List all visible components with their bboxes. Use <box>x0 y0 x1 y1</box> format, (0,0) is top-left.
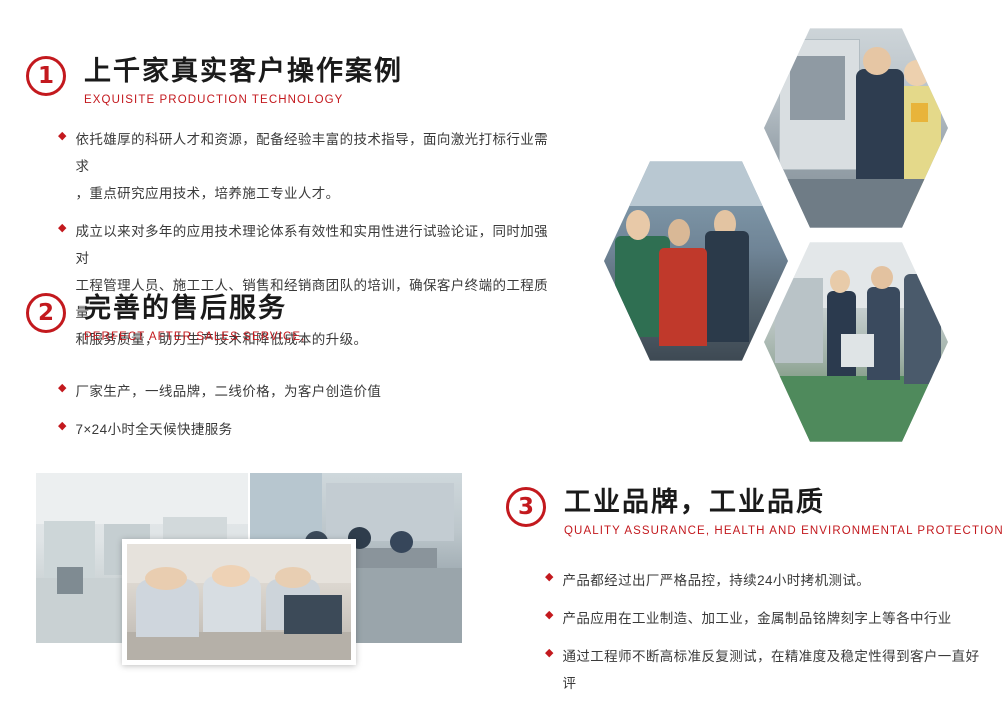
section-2-title-cn: 完善的售后服务 <box>84 293 305 324</box>
factory-workshop-floor-photo <box>764 236 948 448</box>
list-item: ◆ 7×24小时全天候快捷服务 <box>58 416 538 443</box>
section-2-title-en: PERFECT AFTER SALES SERVICE, <box>84 331 305 343</box>
section-2-bullet-2: 7×24小时全天候快捷服务 <box>75 416 232 443</box>
section-1-title-en: EXQUISITE PRODUCTION TECHNOLOGY <box>84 94 403 106</box>
diamond-icon: ◆ <box>58 218 66 238</box>
hex-photo-inspection <box>764 22 948 234</box>
section-3-bullet-list: ◆ 产品都经过出厂严格品控，持续24小时拷机测试。 ◆ 产品应用在工业制造、加工… <box>545 567 985 708</box>
hex-photo-workers <box>604 155 788 367</box>
section-2-heading-text: 完善的售后服务 PERFECT AFTER SALES SERVICE, <box>84 293 305 343</box>
promo-page: 1 上千家真实客户操作案例 EXQUISITE PRODUCTION TECHN… <box>0 0 1003 684</box>
section-1-heading-text: 上千家真实客户操作案例 EXQUISITE PRODUCTION TECHNOL… <box>84 56 403 106</box>
section-3-bullet-1: 产品都经过出厂严格品控，持续24小时拷机测试。 <box>562 567 870 594</box>
list-item: ◆ 产品都经过出厂严格品控，持续24小时拷机测试。 <box>545 567 985 594</box>
section-1-heading: 1 上千家真实客户操作案例 EXQUISITE PRODUCTION TECHN… <box>26 56 403 106</box>
section-1-number-badge: 1 <box>26 56 66 96</box>
list-item: ◆ 产品应用在工业制造、加工业，金属制品铭牌刻字上等各中行业 <box>545 605 985 632</box>
section-3-heading: 3 工业品牌，工业品质 QUALITY ASSURANCE, HEALTH AN… <box>506 487 1003 537</box>
list-item: ◆ 通过工程师不断高标准反复测试，在精准度及稳定性得到客户一直好评 <box>545 643 985 697</box>
diamond-icon: ◆ <box>58 378 66 398</box>
section-2-heading: 2 完善的售后服务 PERFECT AFTER SALES SERVICE, <box>26 293 305 343</box>
workers-operating-laser-machine-photo <box>604 155 788 367</box>
hex-photo-workshop <box>764 236 948 448</box>
engineers-inspecting-equipment-photo <box>764 22 948 234</box>
section-3-title-cn: 工业品牌，工业品质 <box>564 487 1003 518</box>
diamond-icon: ◆ <box>58 416 66 436</box>
section-2-number-badge: 2 <box>26 293 66 333</box>
diamond-icon: ◆ <box>545 605 553 625</box>
list-item: ◆ 依托雄厚的科研人才和资源，配备经验丰富的技术指导，面向激光打标行业需求 ，重… <box>58 126 558 207</box>
section-3-heading-text: 工业品牌，工业品质 QUALITY ASSURANCE, HEALTH AND … <box>564 487 1003 537</box>
section-3-bullet-2: 产品应用在工业制造、加工业，金属制品铭牌刻字上等各中行业 <box>562 605 951 632</box>
customer-service-call-center-photo <box>122 539 356 665</box>
diamond-icon: ◆ <box>58 126 66 146</box>
section-3-bullet-3: 通过工程师不断高标准反复测试，在精准度及稳定性得到客户一直好评 <box>562 643 985 697</box>
list-item: ◆ 厂家生产，一线品牌，二线价格，为客户创造价值 <box>58 378 538 405</box>
section-3-title-en: QUALITY ASSURANCE, HEALTH AND ENVIRONMEN… <box>564 525 1003 537</box>
section-1-bullet-1: 依托雄厚的科研人才和资源，配备经验丰富的技术指导，面向激光打标行业需求 ，重点研… <box>75 126 558 207</box>
diamond-icon: ◆ <box>545 567 553 587</box>
section-3-number-badge: 3 <box>506 487 546 527</box>
diamond-icon: ◆ <box>545 643 553 663</box>
section-1-title-cn: 上千家真实客户操作案例 <box>84 56 403 87</box>
section-2-bullet-1: 厂家生产，一线品牌，二线价格，为客户创造价值 <box>75 378 381 405</box>
section-2-bullet-list: ◆ 厂家生产，一线品牌，二线价格，为客户创造价值 ◆ 7×24小时全天候快捷服务 <box>58 378 538 454</box>
